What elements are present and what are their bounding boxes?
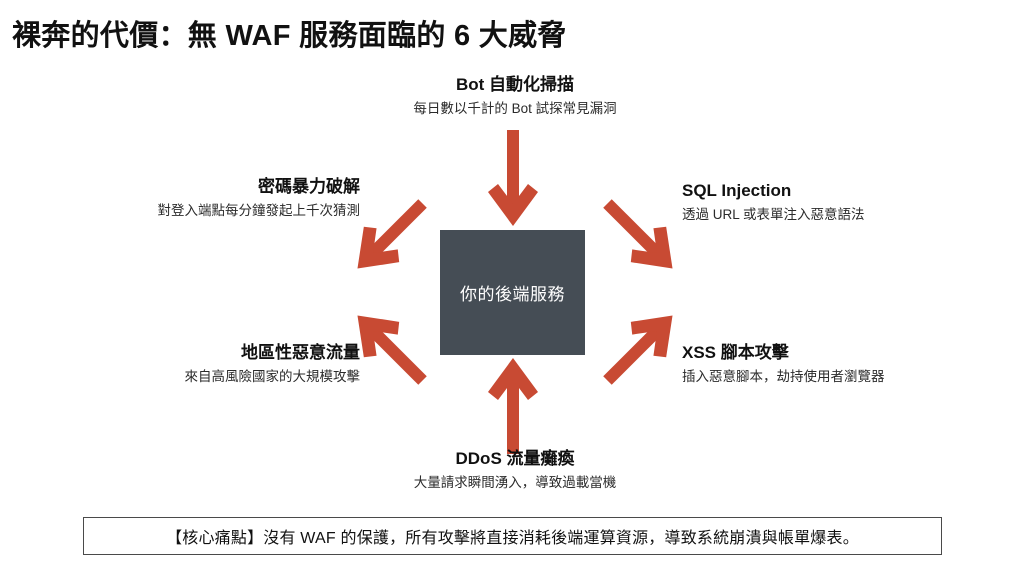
- threat-diagram: 你的後端服務: [0, 60, 1024, 510]
- core-painpoint-callout: 【核心痛點】沒有 WAF 的保護，所有攻擊將直接消耗後端運算資源，導致系統崩潰與…: [83, 517, 942, 555]
- threat-label-ddos: DDoS 流量癱瘓 大量請求瞬間湧入，導致過載當機: [370, 448, 660, 493]
- threat-label-geo: 地區性惡意流量 來自高風險國家的大規模攻擊: [60, 342, 360, 387]
- threat-desc-bot: 每日數以千計的 Bot 試探常見漏洞: [370, 99, 660, 119]
- threat-title-bruteforce: 密碼暴力破解: [60, 176, 360, 199]
- threat-title-geo: 地區性惡意流量: [60, 342, 360, 365]
- threat-desc-xss: 插入惡意腳本，劫持使用者瀏覽器: [682, 367, 982, 387]
- arrow-down-left-icon: [592, 188, 688, 284]
- arrow-up-left-icon: [592, 300, 688, 396]
- arrow-up-icon: [486, 358, 540, 454]
- core-painpoint-text: 【核心痛點】沒有 WAF 的保護，所有攻擊將直接消耗後端運算資源，導致系統崩潰與…: [166, 524, 859, 548]
- threat-desc-geo: 來自高風險國家的大規模攻擊: [60, 367, 360, 387]
- core-service-label: 你的後端服務: [460, 280, 565, 305]
- page-title: 裸奔的代價：無 WAF 服務面臨的 6 大威脅: [12, 12, 567, 54]
- threat-desc-bruteforce: 對登入端點每分鐘發起上千次猜測: [60, 201, 360, 221]
- threat-title-ddos: DDoS 流量癱瘓: [370, 448, 660, 471]
- threat-label-bot: Bot 自動化掃描 每日數以千計的 Bot 試探常見漏洞: [370, 74, 660, 119]
- threat-title-sqli: SQL Injection: [682, 180, 982, 203]
- threat-title-bot: Bot 自動化掃描: [370, 74, 660, 97]
- threat-desc-sqli: 透過 URL 或表單注入惡意語法: [682, 205, 982, 225]
- arrow-down-icon: [486, 130, 540, 228]
- core-service-node: 你的後端服務: [440, 230, 585, 355]
- threat-label-xss: XSS 腳本攻擊 插入惡意腳本，劫持使用者瀏覽器: [682, 342, 982, 387]
- threat-label-bruteforce: 密碼暴力破解 對登入端點每分鐘發起上千次猜測: [60, 176, 360, 221]
- threat-desc-ddos: 大量請求瞬間湧入，導致過載當機: [370, 473, 660, 493]
- threat-title-xss: XSS 腳本攻擊: [682, 342, 982, 365]
- threat-label-sqli: SQL Injection 透過 URL 或表單注入惡意語法: [682, 180, 982, 225]
